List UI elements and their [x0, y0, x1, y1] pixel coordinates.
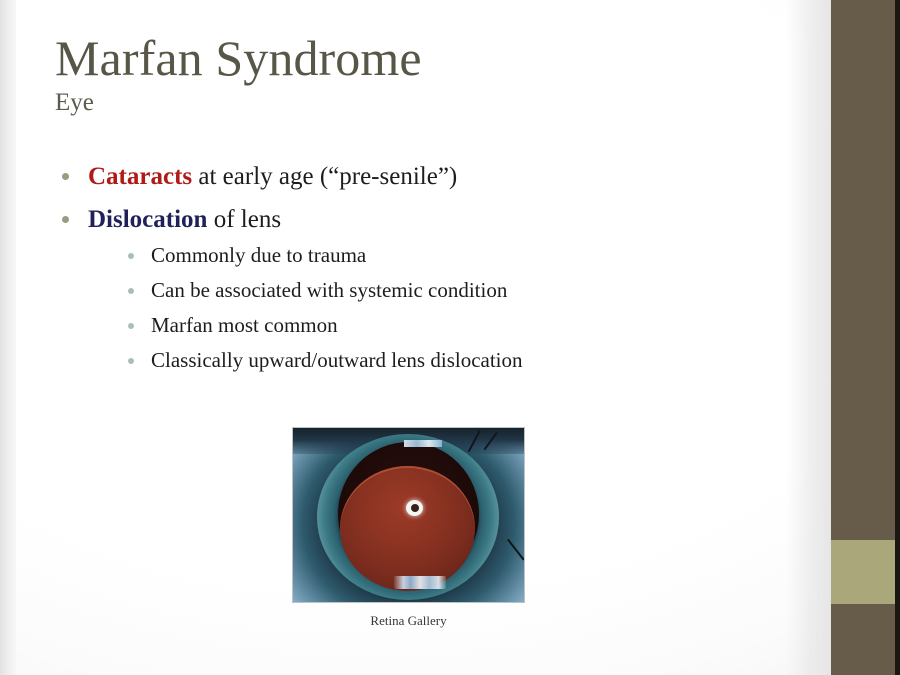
figure-caption: Retina Gallery	[293, 613, 524, 629]
list-item: Marfan most common	[125, 312, 801, 340]
sub-bullet-text: Marfan most common	[151, 313, 338, 337]
bullet-rest-text: of lens	[207, 206, 281, 233]
list-item: Classically upward/outward lens dislocat…	[125, 347, 801, 375]
content-body: Cataracts at early age (“pre-senile”) Di…	[56, 160, 801, 385]
rail-dark-edge	[895, 0, 900, 675]
bullet-marker-icon	[62, 216, 69, 223]
slide-left-edge-shade	[0, 0, 16, 675]
rail-accent-block	[831, 540, 895, 604]
sub-bullet-marker-icon	[128, 288, 134, 294]
presentation-slide: Marfan Syndrome Eye Cataracts at early a…	[0, 0, 900, 675]
page-subtitle: Eye	[55, 89, 795, 117]
list-item: Commonly due to trauma	[125, 242, 801, 270]
dislocated-lens	[340, 466, 475, 591]
list-item: Cataracts at early age (“pre-senile”)	[56, 160, 801, 193]
corneal-light-reflex-center	[411, 504, 419, 512]
slide-right-rail	[831, 0, 900, 675]
specular-highlight-top	[404, 440, 442, 447]
sub-bullet-text: Commonly due to trauma	[151, 243, 366, 267]
bullet-list-level1: Cataracts at early age (“pre-senile”) Di…	[56, 160, 801, 375]
list-item: Dislocation of lens Commonly due to trau…	[56, 203, 801, 375]
bullet-list-level2: Commonly due to trauma Can be associated…	[88, 242, 801, 375]
bullet-lead-term: Cataracts	[88, 163, 192, 190]
title-block: Marfan Syndrome Eye	[55, 32, 795, 117]
bullet-rest-text: at early age (“pre-senile”)	[192, 163, 457, 190]
specular-highlight-bottom	[394, 576, 446, 589]
sub-bullet-marker-icon	[128, 358, 134, 364]
list-item: Can be associated with systemic conditio…	[125, 277, 801, 305]
bullet-lead-term: Dislocation	[88, 206, 207, 233]
bullet-marker-icon	[62, 173, 69, 180]
figure-block: Retina Gallery	[293, 428, 524, 629]
sub-bullet-marker-icon	[128, 323, 134, 329]
sub-bullet-text: Can be associated with systemic conditio…	[151, 278, 507, 302]
sub-bullet-text: Classically upward/outward lens dislocat…	[151, 348, 523, 372]
eye-photograph	[293, 428, 524, 602]
sub-bullet-marker-icon	[128, 253, 134, 259]
page-title: Marfan Syndrome	[55, 32, 795, 85]
